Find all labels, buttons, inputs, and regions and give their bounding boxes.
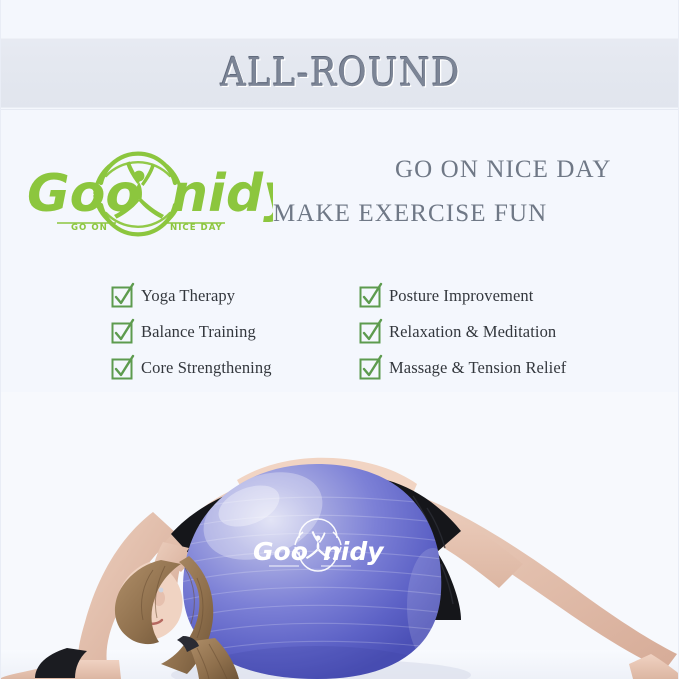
header-banner: ALL-ROUND (1, 38, 679, 108)
feature-label: Posture Improvement (389, 286, 533, 306)
product-marketing-image: ALL-ROUND (0, 0, 679, 679)
feature-label: Core Strengthening (141, 358, 272, 378)
logo-sub-right: NICE DAY (170, 223, 223, 233)
product-photo: Goo nidy (1, 392, 679, 679)
tagline-line-1: GO ON NICE DAY (395, 156, 612, 184)
product-photo-illustration: Goo nidy (1, 392, 679, 679)
feature-item-core-strengthening: Core Strengthening (111, 350, 359, 386)
checkbox-checked-icon (111, 322, 132, 343)
checkbox-checked-icon (111, 286, 132, 307)
checkbox-checked-icon (359, 286, 380, 307)
logo-subtitle: GO ON NICE DAY (57, 223, 225, 233)
feature-label: Relaxation & Meditation (389, 322, 556, 342)
brand-logo-graphic: Goo nidy GO ON NICE DAY (23, 143, 273, 243)
feature-item-balance-training: Balance Training (111, 314, 359, 350)
feature-item-massage-tension-relief: Massage & Tension Relief (359, 350, 644, 386)
tagline-line-2: MAKE EXERCISE FUN (273, 200, 547, 228)
ball-logo-wordmark-left: Goo (253, 537, 308, 566)
header-divider (1, 109, 679, 110)
checkbox-checked-icon (359, 358, 380, 379)
logo-wordmark-right: nidy (171, 164, 273, 224)
checkbox-checked-icon (111, 358, 132, 379)
feature-item-yoga-therapy: Yoga Therapy (111, 278, 359, 314)
brand-logo: Goo nidy GO ON NICE DAY (23, 143, 273, 243)
logo-wordmark-left: Goo (27, 164, 141, 224)
feature-list: Yoga Therapy Posture Improvement Balance… (111, 278, 656, 386)
feature-label: Yoga Therapy (141, 286, 235, 306)
feature-label: Massage & Tension Relief (389, 358, 566, 378)
page-title: ALL-ROUND (220, 51, 460, 96)
feature-label: Balance Training (141, 322, 256, 342)
feature-item-posture-improvement: Posture Improvement (359, 278, 644, 314)
earring (159, 588, 164, 593)
checkbox-checked-icon (359, 322, 380, 343)
logo-sub-left: GO ON (71, 223, 108, 233)
ball-logo-wordmark-right: nidy (323, 537, 385, 566)
tagline-block: GO ON NICE DAY MAKE EXERCISE FUN (263, 152, 663, 242)
feature-item-relaxation-meditation: Relaxation & Meditation (359, 314, 644, 350)
